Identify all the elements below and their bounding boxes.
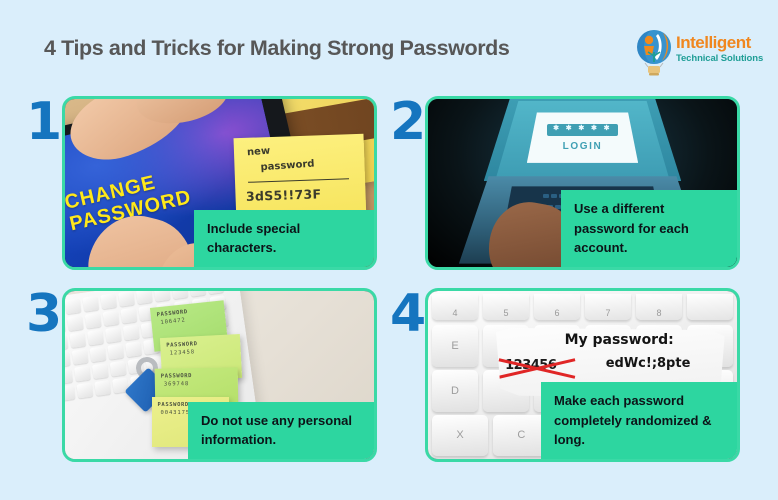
- sticky-note-2-value: 123458: [169, 348, 235, 357]
- key-4: 4: [432, 294, 478, 320]
- note-line-1: new: [247, 145, 271, 158]
- key-6: 6: [534, 294, 580, 320]
- key-e: E: [432, 325, 478, 367]
- masked-password-text: ✱ ✱ ✱ ✱ ✱: [547, 124, 618, 136]
- note-line-2: password: [260, 159, 315, 174]
- tip-1-caption: Include special characters.: [194, 210, 374, 268]
- tip-2-caption: Use a different password for each accoun…: [561, 190, 737, 267]
- logo-subtitle: Technical Solutions: [676, 54, 763, 64]
- tip-number-1: 1: [26, 96, 62, 148]
- key-5: 5: [483, 294, 529, 320]
- login-button-label: LOGIN: [527, 141, 638, 152]
- tip-3-caption: Do not use any personal information.: [188, 402, 374, 460]
- hot-air-balloon-lightbulb-icon: [632, 28, 676, 78]
- tip-card-2[interactable]: ✱ ✱ ✱ ✱ ✱ LOGIN Use a different password…: [425, 96, 740, 270]
- tip-card-3[interactable]: PASSWORD 106472 PASSWORD 123458 PASSWORD…: [62, 288, 377, 462]
- key-d: D: [432, 370, 478, 412]
- page-title: 4 Tips and Tricks for Making Strong Pass…: [44, 36, 509, 61]
- tip-number-3: 3: [26, 288, 62, 340]
- key-9: [687, 294, 733, 320]
- sticky-note-3-label: PASSWORD: [160, 373, 232, 380]
- sticky-note-3-value: 369748: [163, 381, 232, 388]
- new-password-text: edWc!;8pte: [606, 356, 691, 371]
- note-heading: My password:: [565, 332, 674, 348]
- key-8: 8: [636, 294, 682, 320]
- tip-card-1[interactable]: CHANGE PASSWORD new password 3dS5!!73F I…: [62, 96, 377, 270]
- logo-wordmark: Intelligent Technical Solutions: [676, 34, 763, 64]
- tip-card-4[interactable]: 4 5 6 7 8 E D K X C V: [425, 288, 740, 462]
- login-password-field: ✱ ✱ ✱ ✱ ✱: [547, 124, 618, 136]
- brand-logo: Intelligent Technical Solutions: [632, 28, 768, 78]
- note-password-value: 3dS5!!73F: [246, 186, 322, 204]
- logo-name: Intelligent: [676, 34, 763, 51]
- key-x: X: [432, 415, 488, 455]
- keyboard-number-row: 4 5 6 7 8: [428, 291, 737, 323]
- tip-4-caption: Make each password completely randomized…: [541, 382, 737, 459]
- header: 4 Tips and Tricks for Making Strong Pass…: [0, 0, 778, 88]
- key-7: 7: [585, 294, 631, 320]
- tip-number-2: 2: [390, 96, 426, 148]
- tip-number-4: 4: [390, 288, 426, 340]
